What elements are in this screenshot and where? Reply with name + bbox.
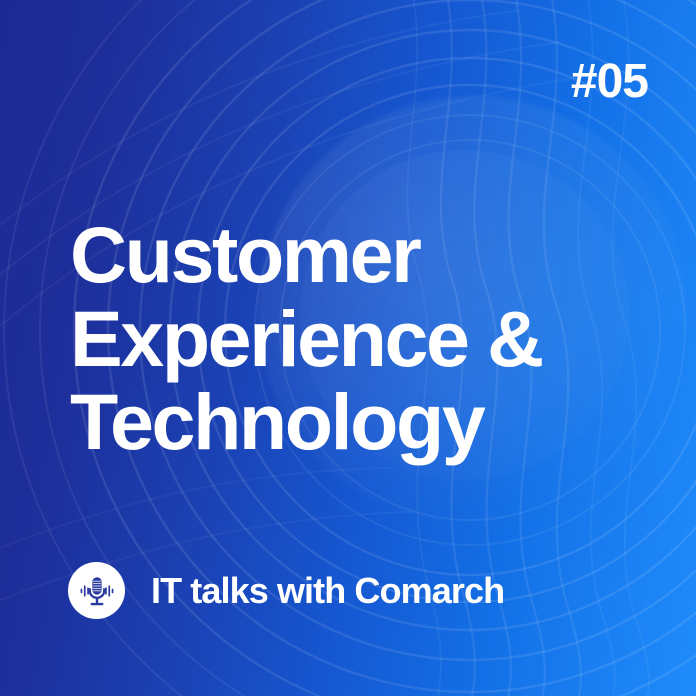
- page-title: Customer Experience & Technology: [70, 213, 542, 464]
- microphone-icon: [68, 562, 125, 619]
- brand-name: IT talks with Comarch: [151, 573, 504, 609]
- podcast-cover: #05 Customer Experience & Technology: [0, 0, 696, 696]
- episode-number: #05: [571, 58, 648, 106]
- brand-row: IT talks with Comarch: [68, 562, 504, 619]
